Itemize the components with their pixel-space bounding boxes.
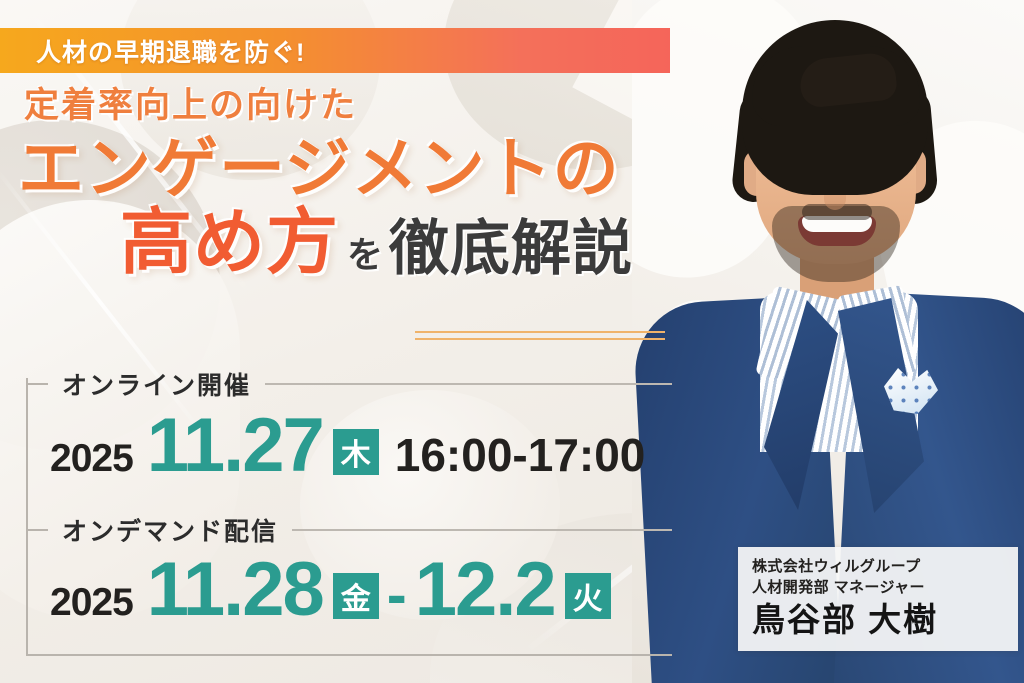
online-weekday-badge: 木: [333, 429, 379, 475]
speaker-info-plate: 株式会社ウィルグループ 人材開発部 マネージャー 鳥谷部 大樹: [738, 547, 1018, 651]
headline-block: 定着率向上の向けた エンゲージメントの 高め方 を 徹底解説: [0, 84, 700, 279]
ondemand-date-end: 12.2: [415, 552, 555, 628]
headline-line-1: 定着率向上の向けた: [24, 84, 700, 128]
tagline-text: 人材の早期退職を防ぐ!: [36, 33, 305, 69]
headline-underline: [415, 331, 665, 340]
label-stub-online: [26, 383, 48, 385]
label-rule-ondemand: [292, 529, 672, 531]
headline-emphasis: 高め方: [120, 207, 339, 279]
online-time: 16:00-17:00: [395, 428, 646, 482]
ondemand-label: オンデマンド配信: [62, 512, 278, 548]
mouth: [798, 216, 876, 246]
online-date: 11.27: [147, 408, 323, 484]
label-rule-online: [265, 383, 672, 385]
ondemand-weekday-start-badge: 金: [333, 573, 379, 619]
online-label: オンライン開催: [62, 366, 251, 402]
headline-line-3: 高め方 を 徹底解説: [120, 207, 700, 279]
ondemand-year: 2025: [50, 581, 133, 625]
online-date-row: 2025 11.27 木 16:00-17:00: [50, 408, 645, 484]
online-label-row: オンライン開催: [26, 366, 672, 402]
ondemand-weekday-end-badge: 火: [565, 573, 611, 619]
schedule-block: オンライン開催 2025 11.27 木 16:00-17:00 オンデマンド配…: [26, 378, 672, 656]
headline-particle: を: [347, 237, 383, 273]
speaker-department: 人材開発部 マネージャー: [752, 577, 1004, 598]
label-stub-ondemand: [26, 529, 48, 531]
ondemand-date-separator: -: [387, 560, 407, 629]
ondemand-label-row: オンデマンド配信: [26, 512, 672, 548]
speaker-organization: 株式会社ウィルグループ: [752, 556, 1004, 577]
online-year: 2025: [50, 437, 133, 481]
speaker-name: 鳥谷部 大樹: [752, 601, 1004, 639]
ondemand-date-start: 11.28: [147, 552, 323, 628]
ondemand-date-row: 2025 11.28 金 - 12.2 火: [50, 552, 611, 629]
tagline-ribbon: 人材の早期退職を防ぐ!: [0, 28, 670, 73]
headline-line-2: エンゲージメントの: [18, 134, 700, 203]
schedule-frame-bottom: [26, 654, 672, 656]
webinar-banner: 人材の早期退職を防ぐ! 定着率向上の向けた エンゲージメントの 高め方 を 徹底…: [0, 0, 1024, 683]
headline-explain: 徹底解説: [389, 219, 633, 279]
